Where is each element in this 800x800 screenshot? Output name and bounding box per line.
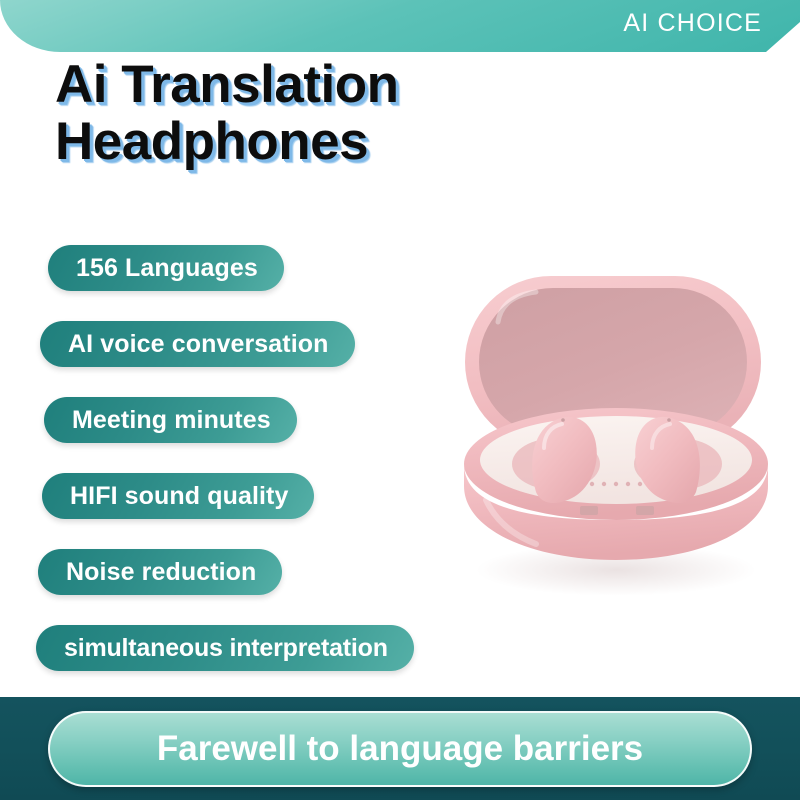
feature-pill-hifi-sound-quality: HIFI sound quality <box>42 473 314 519</box>
tagline-label: Farewell to language barriers <box>157 729 643 769</box>
earbuds-illustration <box>440 268 780 598</box>
ai-choice-badge: AI CHOICE <box>623 7 762 39</box>
product-image-earbuds <box>440 268 780 598</box>
right-earbud-mic-hole <box>667 418 671 422</box>
feature-pill-noise-reduction: Noise reduction <box>38 549 282 595</box>
footer-banner: Farewell to language barriers <box>0 697 800 800</box>
feature-pill-languages: 156 Languages <box>48 245 284 291</box>
tagline-button[interactable]: Farewell to language barriers <box>48 711 752 787</box>
charging-contact-right <box>636 506 654 515</box>
feature-pill-row: simultaneous interpretation <box>36 625 596 701</box>
feature-pill-meeting-minutes: Meeting minutes <box>44 397 297 443</box>
header-banner-container: AI CHOICE <box>0 0 800 52</box>
left-earbud-mic-hole <box>561 418 565 422</box>
feature-pill-simultaneous-interpretation: simultaneous interpretation <box>36 625 414 671</box>
charging-contact-left <box>580 506 598 515</box>
product-poster: AI CHOICE Ai Translation Headphones 156 … <box>0 0 800 800</box>
page-title-line-1: Ai Translation <box>55 56 595 113</box>
page-title: Ai Translation Headphones <box>55 56 595 170</box>
page-title-line-2: Headphones <box>55 113 595 170</box>
feature-pill-ai-voice-conversation: AI voice conversation <box>40 321 355 367</box>
charging-case-base <box>464 408 768 520</box>
